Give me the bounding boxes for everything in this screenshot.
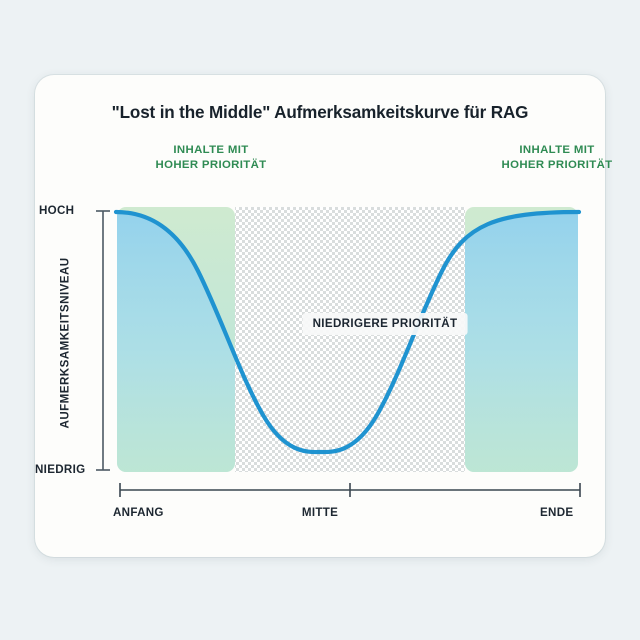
x-axis — [120, 483, 580, 497]
low-priority-label: NIEDRIGERE PRIORITÄT — [303, 313, 468, 335]
y-axis-title: AUFMERKSAMKEITSNIVEAU — [59, 259, 72, 429]
y-axis-bottom-label: NIEDRIG — [35, 463, 85, 476]
y-axis — [96, 211, 110, 470]
screenshot-root: "Lost in the Middle" Aufmerksamkeitskurv… — [0, 0, 640, 640]
x-axis-tick-end: ENDE — [540, 506, 573, 519]
low-priority-region — [235, 207, 465, 472]
x-axis-tick-start: ANFANG — [113, 506, 164, 519]
x-axis-tick-middle: MITTE — [302, 506, 338, 519]
y-axis-top-label: HOCH — [39, 204, 74, 217]
chart-card: "Lost in the Middle" Aufmerksamkeitskurv… — [35, 75, 605, 557]
